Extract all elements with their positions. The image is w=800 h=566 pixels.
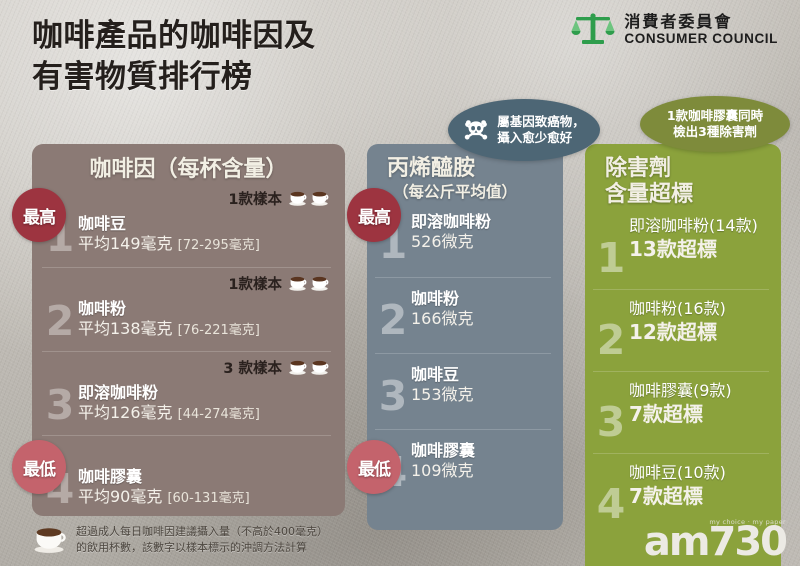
item-value: 109微克 bbox=[411, 461, 551, 482]
item-name: 即溶咖啡粉 bbox=[78, 383, 331, 403]
row-body: 咖啡豆 153微克 bbox=[411, 365, 551, 406]
row-body: 3 款樣本 bbox=[78, 359, 331, 424]
row-body: 即溶咖啡粉(14款) 13款超標 bbox=[629, 216, 769, 262]
coffee-cup-icon bbox=[32, 526, 66, 554]
table-row: 1 1款樣本 bbox=[42, 183, 331, 267]
panel-pesticide-title: 除害劑 含量超標 bbox=[585, 144, 781, 207]
callout-pesticide-text: 1款咖啡膠囊同時 檢出3種除害劑 bbox=[667, 108, 763, 141]
table-row: 1 即溶咖啡粉(14款) 13款超標 bbox=[593, 207, 769, 289]
table-row: 3 咖啡豆 153微克 bbox=[375, 353, 551, 429]
table-row: 3 咖啡膠囊(9款) 7款超標 bbox=[593, 371, 769, 453]
table-row: 1 即溶咖啡粉 526微克 bbox=[375, 201, 551, 277]
footnote-text: 超過成人每日咖啡因建議攝入量（不高於400毫克） 的飲用杯數，該數字以樣本標示的… bbox=[76, 524, 328, 556]
coffee-cup-icon bbox=[310, 360, 329, 375]
row-body: 咖啡粉 166微克 bbox=[411, 289, 551, 330]
sample-count-label: 3 款樣本 bbox=[223, 357, 282, 378]
item-range: [72-295毫克] bbox=[178, 238, 260, 253]
rank-number: 3 bbox=[42, 385, 78, 426]
coffee-cup-icons bbox=[288, 276, 329, 291]
item-value: 526微克 bbox=[411, 232, 551, 253]
sample-count: 1款樣本 bbox=[228, 188, 329, 209]
badge-lowest-acrylamide: 最低 bbox=[347, 440, 401, 494]
item-average: 平均149毫克 bbox=[78, 234, 173, 253]
callout-pesticide-note: 1款咖啡膠囊同時 檢出3種除害劑 bbox=[640, 96, 790, 152]
panel-pesticide-rows: 1 即溶咖啡粉(14款) 13款超標 2 咖啡粉(16款) 12款超標 3 咖啡… bbox=[585, 207, 781, 535]
item-value: 平均126毫克 [44-274毫克] bbox=[78, 403, 331, 424]
consumer-council-logo: 消費者委員會 CONSUMER COUNCIL bbox=[571, 12, 778, 48]
badge-lowest-caffeine: 最低 bbox=[12, 440, 66, 494]
item-range: [76-221毫克] bbox=[178, 323, 260, 338]
balance-scale-icon bbox=[571, 12, 615, 48]
row-body: 咖啡膠囊(9款) 7款超標 bbox=[629, 381, 769, 427]
item-name: 咖啡膠囊 bbox=[78, 467, 331, 487]
coffee-cup-icon bbox=[310, 191, 329, 206]
page-title-line-1: 咖啡產品的咖啡因及 bbox=[32, 18, 316, 54]
item-value: 166微克 bbox=[411, 309, 551, 330]
item-value: 平均90毫克 [60-131毫克] bbox=[78, 487, 331, 508]
row-body: 1款樣本 bbox=[78, 190, 331, 255]
callout-acrylamide-line-1: 屬基因致癌物， bbox=[497, 114, 585, 130]
row-body: 即溶咖啡粉 526微克 bbox=[411, 212, 551, 253]
footnote-line-2: 的飲用杯數，該數字以樣本標示的沖調方法計算 bbox=[76, 540, 328, 556]
callout-pesticide-line-1: 1款咖啡膠囊同時 bbox=[667, 108, 763, 124]
am730-tagline: my choice · my paper bbox=[644, 518, 786, 526]
logo-wordmark: 消費者委員會 CONSUMER COUNCIL bbox=[624, 14, 778, 46]
sample-count: 3 款樣本 bbox=[223, 357, 329, 378]
rank-number: 2 bbox=[593, 320, 629, 361]
item-value: 平均138毫克 [76-221毫克] bbox=[78, 319, 331, 340]
coffee-cup-icons bbox=[288, 191, 329, 206]
callout-acrylamide-text: 屬基因致癌物， 攝入愈少愈好 bbox=[497, 114, 585, 147]
coffee-cup-icons bbox=[288, 360, 329, 375]
footnote: 超過成人每日咖啡因建議攝入量（不高於400毫克） 的飲用杯數，該數字以樣本標示的… bbox=[32, 524, 392, 556]
panel-pesticide-subtitle: 含量超標 bbox=[605, 182, 781, 208]
item-value: 12款超標 bbox=[629, 319, 769, 345]
coffee-cup-icon bbox=[288, 276, 307, 291]
coffee-cup-icon bbox=[288, 191, 307, 206]
coffee-cup-icon bbox=[310, 276, 329, 291]
item-name: 即溶咖啡粉 bbox=[411, 212, 551, 232]
row-body: 咖啡膠囊 平均90毫克 [60-131毫克] bbox=[78, 443, 331, 508]
item-average: 平均90毫克 bbox=[78, 487, 162, 506]
rank-number: 2 bbox=[42, 301, 78, 342]
skull-crossbones-icon bbox=[463, 117, 489, 143]
item-name: 咖啡豆 bbox=[411, 365, 551, 385]
footnote-line-1: 超過成人每日咖啡因建議攝入量（不高於400毫克） bbox=[76, 524, 328, 540]
panel-caffeine-title: 咖啡因（每杯含量） bbox=[32, 144, 345, 183]
rank-number: 3 bbox=[593, 402, 629, 443]
item-name: 咖啡粉 bbox=[78, 299, 331, 319]
badge-highest-acrylamide: 最高 bbox=[347, 188, 401, 242]
row-body: 咖啡粉(16款) 12款超標 bbox=[629, 299, 769, 345]
item-range: [60-131毫克] bbox=[167, 491, 249, 506]
page-title: 咖啡產品的咖啡因及 有害物質排行榜 bbox=[32, 16, 316, 98]
item-value: 7款超標 bbox=[629, 483, 769, 509]
item-name: 咖啡粉(16款) bbox=[629, 299, 769, 319]
item-average: 平均126毫克 bbox=[78, 403, 173, 422]
item-range: [44-274毫克] bbox=[178, 407, 260, 422]
item-value: 153微克 bbox=[411, 385, 551, 406]
item-value: 平均149毫克 [72-295毫克] bbox=[78, 234, 331, 255]
page-title-line-2: 有害物質排行榜 bbox=[32, 57, 316, 98]
table-row: 2 1款樣本 bbox=[42, 267, 331, 351]
panel-caffeine: 咖啡因（每杯含量） 1 1款樣本 bbox=[32, 144, 345, 516]
item-name: 咖啡膠囊(9款) bbox=[629, 381, 769, 401]
panel-caffeine-rows: 1 1款樣本 bbox=[32, 183, 345, 519]
sample-count-label: 1款樣本 bbox=[228, 273, 282, 294]
panel-pesticide: 除害劑 含量超標 1 即溶咖啡粉(14款) 13款超標 2 咖啡粉(16款) 1… bbox=[585, 144, 781, 566]
sample-count: 1款樣本 bbox=[228, 273, 329, 294]
badge-highest-caffeine: 最高 bbox=[12, 188, 66, 242]
panel-acrylamide-title-main: 丙烯醯胺 bbox=[387, 156, 475, 181]
item-name: 咖啡豆 bbox=[78, 214, 331, 234]
item-name: 咖啡豆(10款) bbox=[629, 463, 769, 483]
item-name: 咖啡粉 bbox=[411, 289, 551, 309]
callout-acrylamide-warning: 屬基因致癌物， 攝入愈少愈好 bbox=[448, 99, 600, 161]
row-body: 1款樣本 bbox=[78, 275, 331, 340]
table-row: 2 咖啡粉 166微克 bbox=[375, 277, 551, 353]
table-row: 4 咖啡膠囊 平均90毫克 [60-131毫克] bbox=[42, 435, 331, 519]
panel-pesticide-title-main: 除害劑 bbox=[605, 156, 671, 181]
coffee-cup-icon bbox=[288, 360, 307, 375]
item-value: 13款超標 bbox=[629, 236, 769, 262]
rank-number: 1 bbox=[593, 238, 629, 279]
am730-wordmark: am730 bbox=[644, 524, 786, 560]
callout-acrylamide-line-2: 攝入愈少愈好 bbox=[497, 130, 585, 146]
infographic-canvas: 咖啡產品的咖啡因及 有害物質排行榜 消費者委員會 CONSUMER COUNCI… bbox=[0, 0, 800, 566]
panel-acrylamide-subtitle: （每公斤平均值） bbox=[387, 184, 563, 202]
table-row: 4 咖啡膠囊 109微克 bbox=[375, 429, 551, 505]
logo-name-english: CONSUMER COUNCIL bbox=[624, 32, 778, 46]
table-row: 2 咖啡粉(16款) 12款超標 bbox=[593, 289, 769, 371]
table-row: 3 3 款樣本 bbox=[42, 351, 331, 435]
item-average: 平均138毫克 bbox=[78, 319, 173, 338]
item-name: 即溶咖啡粉(14款) bbox=[629, 216, 769, 236]
sample-count-label: 1款樣本 bbox=[228, 188, 282, 209]
rank-number: 4 bbox=[593, 484, 629, 525]
rank-number: 2 bbox=[375, 300, 411, 341]
item-value: 7款超標 bbox=[629, 401, 769, 427]
row-body: 咖啡豆(10款) 7款超標 bbox=[629, 463, 769, 509]
rank-number: 3 bbox=[375, 376, 411, 417]
callout-pesticide-line-2: 檢出3種除害劑 bbox=[667, 124, 763, 140]
logo-name-chinese: 消費者委員會 bbox=[624, 14, 778, 31]
am730-watermark: my choice · my paper am730 bbox=[644, 518, 786, 560]
row-body: 咖啡膠囊 109微克 bbox=[411, 441, 551, 482]
item-name: 咖啡膠囊 bbox=[411, 441, 551, 461]
